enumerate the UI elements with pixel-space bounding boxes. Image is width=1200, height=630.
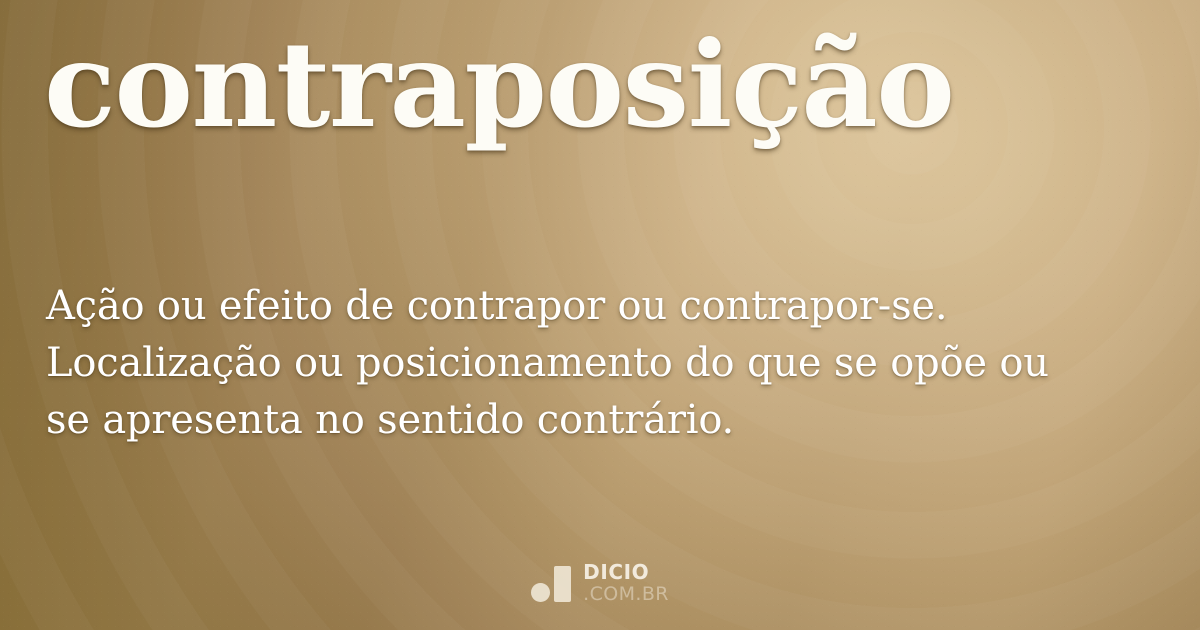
dicio-logo: DICIO .COM.BR (0, 562, 1200, 604)
logo-circle-shape (531, 583, 550, 602)
logo-bar-shape (554, 566, 571, 602)
definition-line: se apresenta no sentido contrário. (46, 392, 1168, 449)
dictionary-share-card: contraposição Ação ou efeito de contrapo… (0, 0, 1200, 630)
logo-brand-name: DICIO (583, 562, 669, 582)
headword-title: contraposição (44, 26, 1164, 144)
card-content: contraposição Ação ou efeito de contrapo… (0, 0, 1200, 630)
definition-text: Ação ou efeito de contrapor ou contrapor… (46, 278, 1168, 449)
definition-line: Ação ou efeito de contrapor ou contrapor… (46, 278, 1168, 335)
logo-domain-suffix: .COM.BR (583, 585, 669, 604)
logo-wordmark: DICIO .COM.BR (583, 562, 669, 604)
definition-line: Localização ou posicionamento do que se … (46, 335, 1168, 392)
dicio-dot-bar-icon (531, 564, 571, 602)
